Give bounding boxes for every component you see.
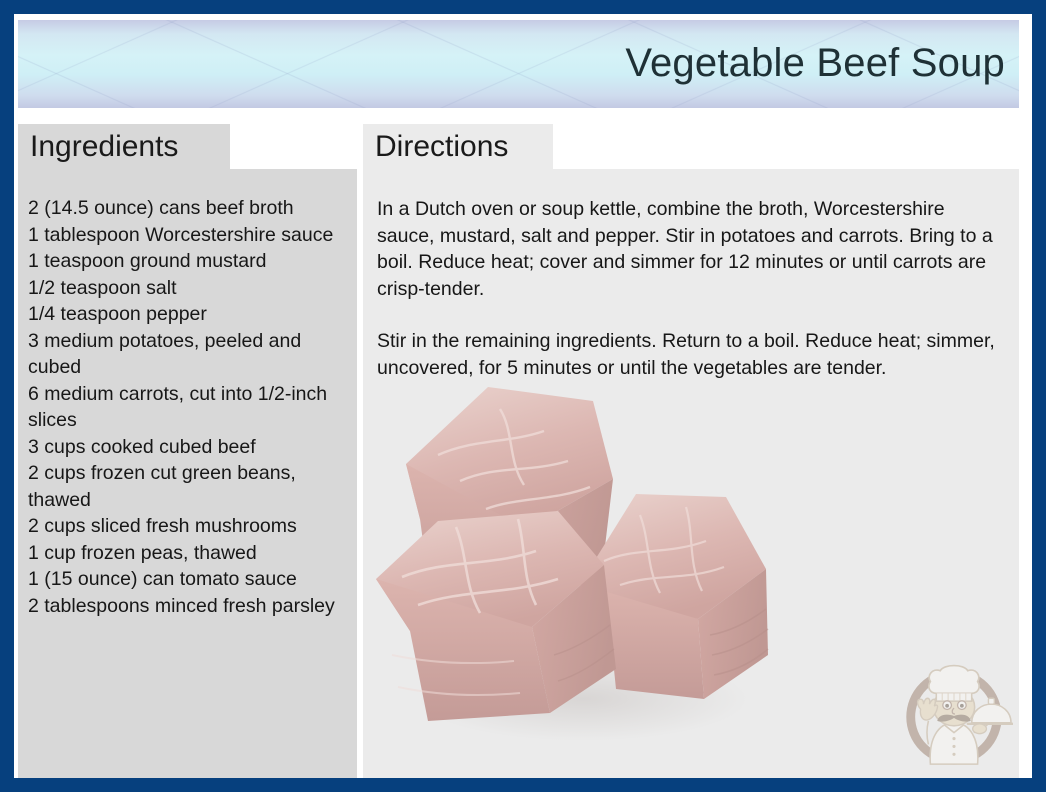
ingredient-item: 3 medium potatoes, peeled and cubed [28,328,343,381]
recipe-slide: Vegetable Beef Soup Ingredients 2 (14.5 … [0,0,1046,792]
ingredient-item: 1 tablespoon Worcestershire sauce [28,222,343,249]
ingredient-item: 2 tablespoons minced fresh parsley [28,593,343,620]
ingredients-heading: Ingredients [18,124,230,169]
ingredient-item: 6 medium carrots, cut into 1/2-inch slic… [28,381,343,434]
ingredients-list: 2 (14.5 ounce) cans beef broth1 tablespo… [28,195,343,619]
direction-paragraph: In a Dutch oven or soup kettle, combine … [377,196,1003,302]
ingredient-item: 1 cup frozen peas, thawed [28,540,343,567]
beef-cubes-photo [368,369,798,769]
title-banner: Vegetable Beef Soup [18,20,1019,108]
ingredient-item: 3 cups cooked cubed beef [28,434,343,461]
ingredient-item: 2 cups sliced fresh mushrooms [28,513,343,540]
ingredient-item: 1 teaspoon ground mustard [28,248,343,275]
chef-mascot-logo [895,654,1013,772]
directions-panel: In a Dutch oven or soup kettle, combine … [363,169,1019,778]
ingredient-item: 1 (15 ounce) can tomato sauce [28,566,343,593]
ingredient-item: 1/4 teaspoon pepper [28,301,343,328]
slide-canvas: Vegetable Beef Soup Ingredients 2 (14.5 … [14,14,1032,778]
directions-text: In a Dutch oven or soup kettle, combine … [377,196,1003,381]
ingredients-panel: 2 (14.5 ounce) cans beef broth1 tablespo… [18,169,357,778]
ingredient-item: 2 (14.5 ounce) cans beef broth [28,195,343,222]
ingredient-item: 2 cups frozen cut green beans, thawed [28,460,343,513]
directions-heading: Directions [363,124,553,169]
ingredient-item: 1/2 teaspoon salt [28,275,343,302]
page-title: Vegetable Beef Soup [625,43,1005,83]
